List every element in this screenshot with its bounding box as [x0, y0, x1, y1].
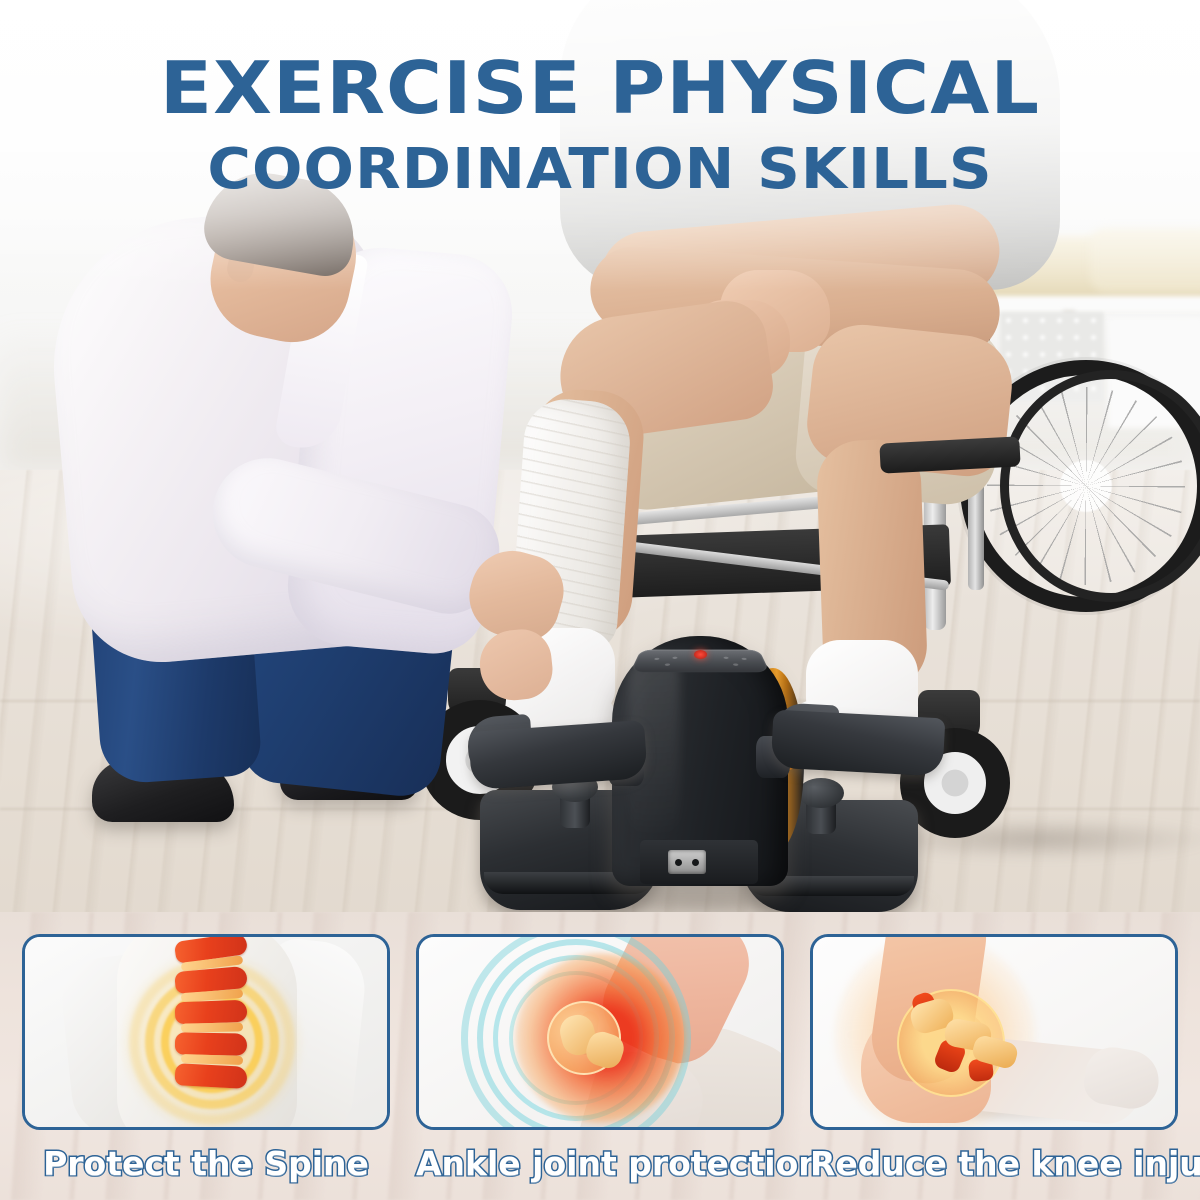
poster-title: EXERCISE PHYSICAL COORDINATION SKILLS	[0, 52, 1200, 200]
benefits-strip: Protect the Spine	[0, 912, 1200, 1200]
benefit-caption-knee: Reduce the knee injury	[810, 1144, 1178, 1183]
benefit-cards: Protect the Spine	[0, 934, 1200, 1183]
spine-thumbnail	[22, 934, 390, 1130]
knee-thumbnail	[416, 934, 784, 1130]
benefit-card-spine[interactable]: Protect the Spine	[22, 934, 390, 1183]
benefit-card-ankle[interactable]: Ankle joint protection	[416, 934, 784, 1183]
spine-vertebrae	[175, 934, 251, 1111]
benefit-card-knee[interactable]: Reduce the knee injury	[810, 934, 1178, 1183]
product-poster: EXERCISE PHYSICAL COORDINATION SKILLS	[0, 0, 1200, 1200]
device-pivot-knob-right	[798, 778, 844, 808]
ankle-thumbnail	[810, 934, 1178, 1130]
title-line-1: EXERCISE PHYSICAL	[0, 52, 1200, 125]
benefit-caption-spine: Protect the Spine	[22, 1144, 390, 1183]
benefit-caption-ankle: Ankle joint protection	[416, 1144, 784, 1183]
power-socket-icon	[668, 850, 706, 874]
device-power-led-icon	[694, 650, 707, 659]
title-line-2: COORDINATION SKILLS	[0, 141, 1200, 200]
device-pedal-left[interactable]	[468, 720, 648, 790]
device-pedal-right[interactable]	[771, 710, 946, 777]
